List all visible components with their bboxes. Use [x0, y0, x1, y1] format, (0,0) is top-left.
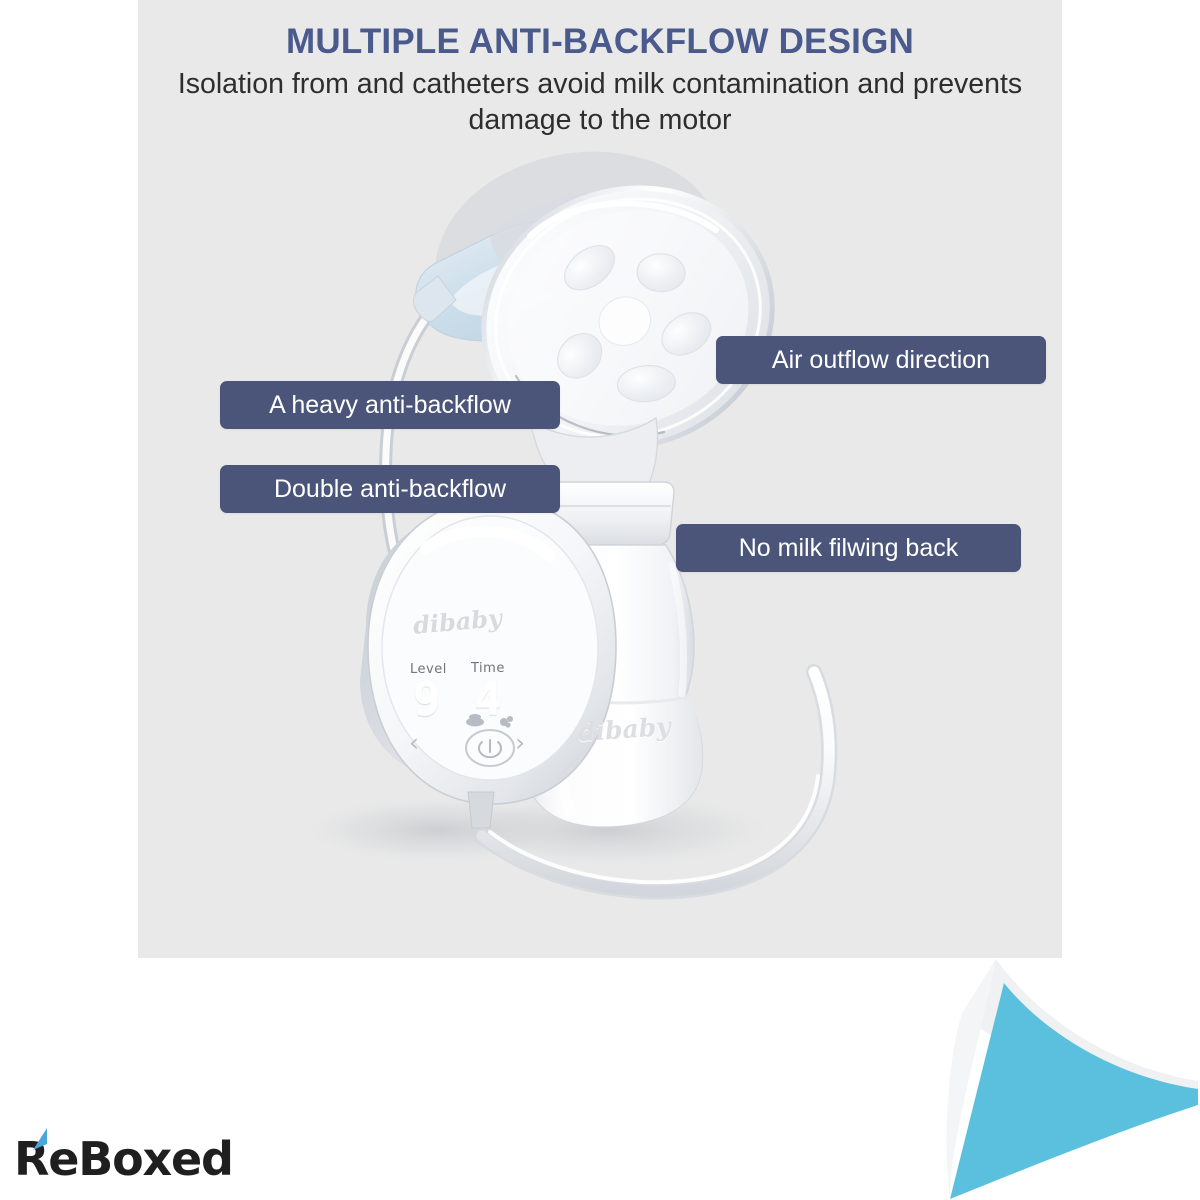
- corner-ribbon-decoration: [940, 955, 1200, 1200]
- motor-tube-port: [468, 792, 494, 828]
- callout-double-anti-backflow: Double anti-backflow: [220, 465, 560, 513]
- ribbon-white-edge: [962, 959, 1198, 1105]
- shadow-motor: [308, 798, 568, 862]
- callout-air-outflow-direction: Air outflow direction: [716, 336, 1046, 384]
- callout-heavy-anti-backflow: A heavy anti-backflow: [220, 381, 560, 429]
- ribbon-left-white: [946, 959, 996, 1199]
- ribbon-blue-face: [950, 983, 1198, 1199]
- callout-no-milk-flowing-back: No milk filwing back: [676, 524, 1021, 572]
- page-subtitle: Isolation from and catheters avoid milk …: [160, 67, 1040, 138]
- heading-block: MULTIPLE ANTI-BACKFLOW DESIGN Isolation …: [138, 22, 1062, 138]
- reboxed-logo: ReBoxed: [14, 1128, 233, 1182]
- page-title: MULTIPLE ANTI-BACKFLOW DESIGN: [138, 22, 1062, 61]
